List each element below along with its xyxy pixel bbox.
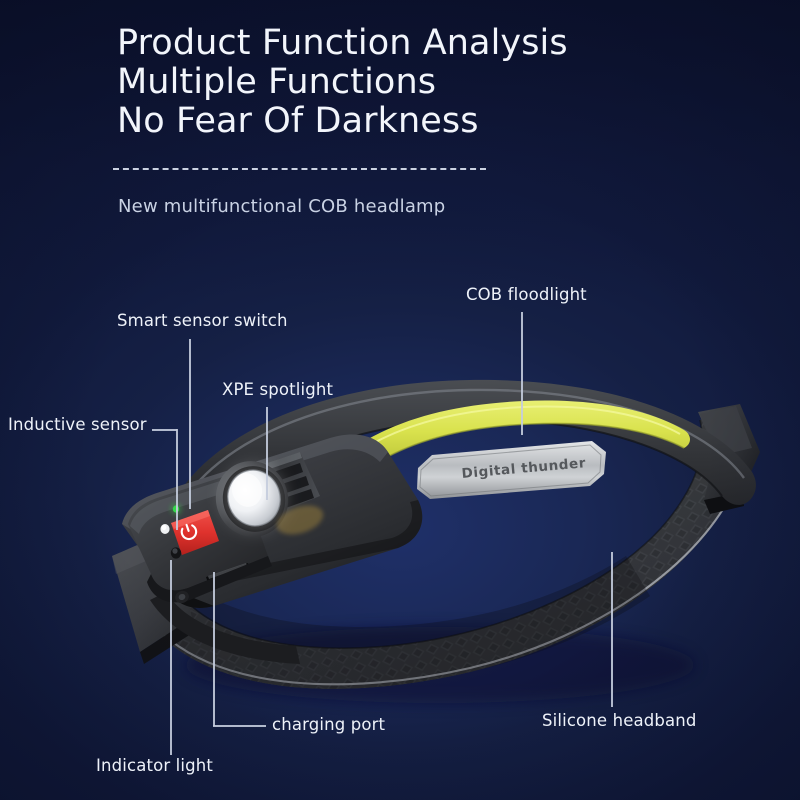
leader-smart-sensor-switch: [189, 339, 191, 509]
page-subtitle: New multifunctional COB headlamp: [118, 196, 445, 217]
leader-inductive-sensor-vertical: [176, 429, 178, 530]
leader-inductive-sensor-horizontal: [152, 429, 177, 431]
infographic-canvas: Digital thunder: [0, 0, 800, 800]
callout-silicone-headband: Silicone headband: [542, 711, 697, 730]
page-title: Product Function Analysis Multiple Funct…: [117, 24, 568, 141]
title-line-1: Product Function Analysis: [117, 24, 568, 63]
callout-smart-sensor-switch: Smart sensor switch: [117, 311, 288, 330]
callout-inductive-sensor: Inductive sensor: [8, 415, 147, 434]
callout-charging-port: charging port: [272, 715, 385, 734]
leader-indicator-light: [170, 560, 172, 755]
title-line-2: Multiple Functions: [117, 63, 568, 102]
callout-xpe-spotlight: XPE spotlight: [222, 380, 333, 399]
leader-xpe-spotlight: [266, 407, 268, 500]
leader-cob-floodlight: [521, 312, 523, 435]
callout-cob-floodlight: COB floodlight: [466, 285, 587, 304]
leader-silicone-headband: [611, 552, 613, 707]
callout-indicator-light: Indicator light: [96, 756, 213, 775]
title-divider: [113, 168, 486, 170]
leader-charging-port-horizontal: [213, 725, 266, 727]
leader-charging-port-vertical: [213, 572, 215, 726]
title-line-3: No Fear Of Darkness: [117, 102, 568, 141]
